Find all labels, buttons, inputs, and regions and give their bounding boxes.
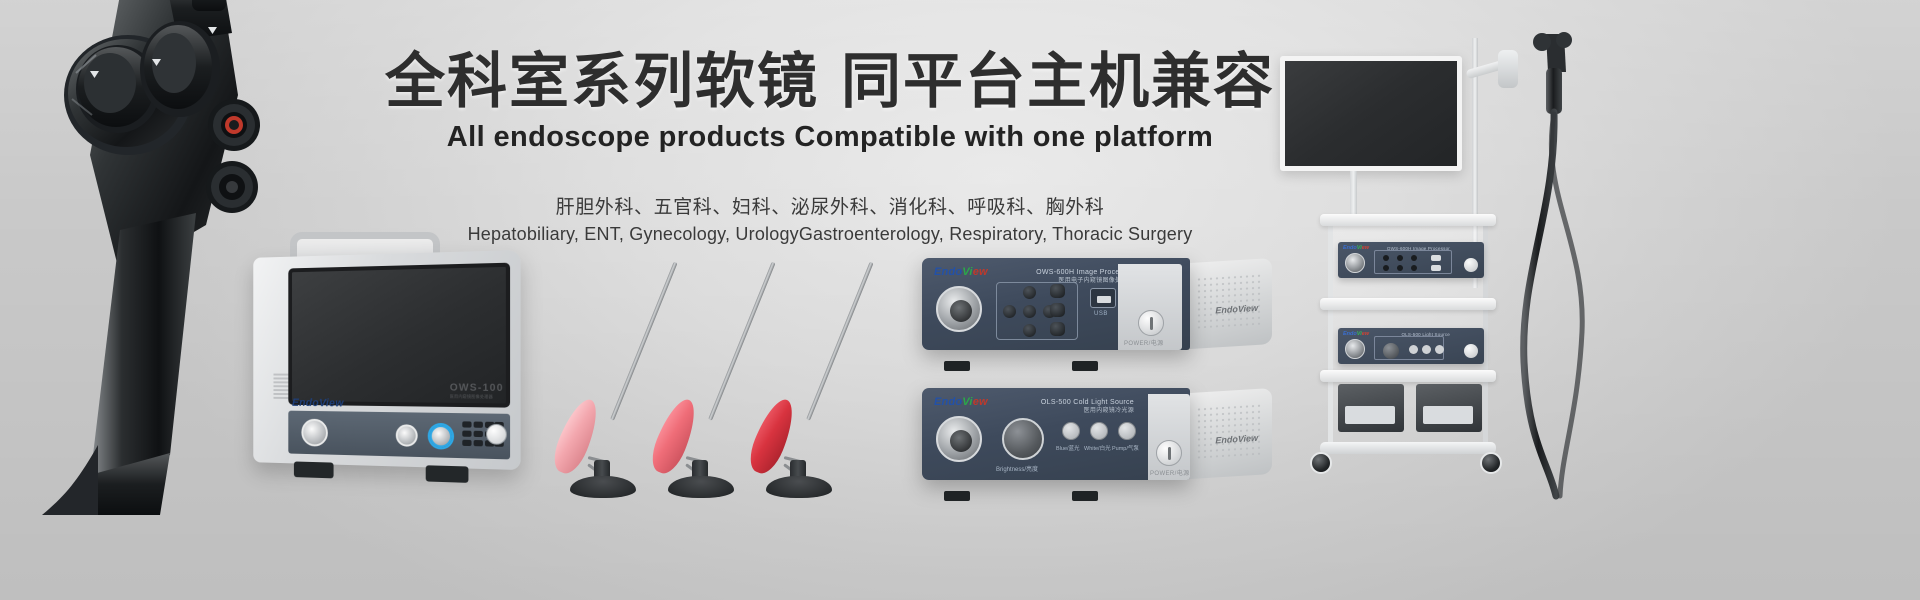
workstation-model-label: OWS-100 医用内窥镜图像处理器 [450,382,504,400]
scope-stand-base [668,476,734,498]
power-button[interactable] [1138,310,1164,336]
light-guide-port[interactable] [936,416,982,462]
power-label: POWER/电源 [1124,338,1164,347]
scope-stand-base [570,476,636,498]
console-brand-logo: EndoView [934,266,988,278]
cart-shelf-middle [1320,298,1496,310]
cart-bottom-display-right [1423,406,1473,424]
headline-text-block: 全科室系列软镜同平台主机兼容 All endoscope products Co… [330,48,1330,245]
cart-unit-port[interactable] [1345,253,1365,273]
console-model-label: OLS-500 Cold Light Source 医用内窥镜冷光源 [1041,398,1134,416]
cart-bottom-unit-left [1338,384,1404,432]
cart-unit-brand: EndoView [1343,331,1369,337]
departments-chinese: 肝胆外科、五官科、妇科、泌尿外科、消化科、呼吸科、胸外科 [330,192,1330,219]
usb-port[interactable] [1090,288,1116,308]
brand-segment-3: ew [973,396,988,408]
scope-shaft [806,262,873,421]
cart-unit-controls[interactable] [1374,336,1444,360]
brand-segment-3: ew [1362,331,1369,337]
power-label: POWER/电源 [1150,468,1190,477]
cart-unit-brand: EndoView [1343,245,1369,251]
cart-wheel-right [1480,452,1502,474]
brand-segment-1: Endo [1343,331,1357,337]
cold-light-source-console: EndoView EndoView OLS-500 Cold Light Sou… [922,388,1272,493]
workstation-foot-right [426,465,469,483]
console-side-vent [1196,403,1262,459]
cart-monitor-stem [1350,171,1357,219]
flexible-scope-red [726,250,886,500]
console-foot-left [944,361,970,371]
workstation-body: EndoView OWS-100 医用内窥镜图像处理器 [253,250,520,470]
console-foot-right [1072,491,1098,501]
brand-segment-3: ew [1362,245,1369,251]
workstation-control-panel: EndoView OWS-100 医用内窥镜图像处理器 [288,411,510,460]
workstation-foot-left [294,461,334,478]
brand-segment-2: Vi [962,266,972,278]
workstation-model-sub: 医用内窥镜图像处理器 [450,394,504,401]
brightness-knob[interactable] [1002,418,1044,460]
cart-light-source: EndoView OLS-500 Light Source [1338,328,1484,364]
blue-light-label: Blue/蓝光 [1056,444,1080,452]
white-light-label: White/白光 [1084,444,1111,452]
power-button[interactable] [1156,440,1182,466]
cart-bottom-equipment [1338,380,1484,436]
pump-label: Pump/气泵 [1112,444,1139,452]
hanging-flexible-endoscope [1490,32,1608,502]
workstation-aux-port-2[interactable] [430,425,452,448]
console-brand-logo: EndoView [934,396,988,408]
headline-part-2: 同平台主机兼容 [841,48,1275,115]
white-light-button[interactable] [1090,422,1108,440]
brand-segment-1: Endo [1343,245,1357,251]
cart-shelf-top [1320,214,1496,226]
console-foot-right [1072,361,1098,371]
console-front-panel: EndoView OLS-500 Cold Light Source 医用内窥镜… [922,388,1190,480]
cart-image-processor: EndoView OWS-600H Image Processor [1338,242,1484,278]
workstation-aux-port-1[interactable] [396,424,418,447]
cart-unit-power-button[interactable] [1464,258,1478,272]
headline-part-1: 全科室系列软镜 [385,48,819,115]
console-power-area: POWER/电源 [1148,394,1190,480]
console-side-vent [1196,273,1262,329]
brand-segment-1: Endo [934,396,962,408]
usb-label: USB [1094,311,1108,317]
page-title: 全科室系列软镜同平台主机兼容 [330,48,1330,115]
workstation-brand-logo: EndoView [292,397,344,409]
brightness-knob-label: Brightness/亮度 [996,464,1038,473]
ows-100-workstation: EndoView OWS-100 医用内窥镜图像处理器 [232,232,532,492]
console-navigation-keypad[interactable] [996,282,1078,340]
cart-wheel-left [1310,452,1332,474]
console-model-cn: 医用内窥镜冷光源 [1041,407,1134,415]
cart-base-plate [1320,442,1496,454]
brand-segment-3: ew [973,266,988,278]
brand-segment-1: Endo [934,266,962,278]
pump-button[interactable] [1118,422,1136,440]
cart-unit-keypad[interactable] [1374,250,1452,274]
console-model-en: OLS-500 Cold Light Source [1041,398,1134,407]
subtitle-english: All endoscope products Compatible with o… [330,121,1330,154]
console-front-panel: EndoView OWS-600H Image Processor 医用电子内窥… [922,258,1190,350]
blue-light-button[interactable] [1062,422,1080,440]
workstation-model-text: OWS-100 [450,382,504,394]
departments-english: Hepatobiliary, ENT, Gynecology, UrologyG… [330,224,1330,245]
workstation-power-knob[interactable] [486,424,507,445]
cart-bottom-display-left [1345,406,1395,424]
scope-stand-base [766,476,832,498]
workstation-scope-port[interactable] [301,419,327,447]
console-scope-connector-port[interactable] [936,286,982,332]
product-banner: 全科室系列软镜同平台主机兼容 All endoscope products Co… [0,0,1920,600]
console-power-area: POWER/电源 [1118,264,1182,350]
brand-segment-2: Vi [962,396,972,408]
cart-unit-port[interactable] [1345,339,1365,359]
cart-unit-power-button[interactable] [1464,344,1478,358]
console-foot-left [944,491,970,501]
cart-bottom-unit-right [1416,384,1482,432]
image-processor-console: EndoView EndoView OWS-600H Image Process… [922,258,1272,363]
